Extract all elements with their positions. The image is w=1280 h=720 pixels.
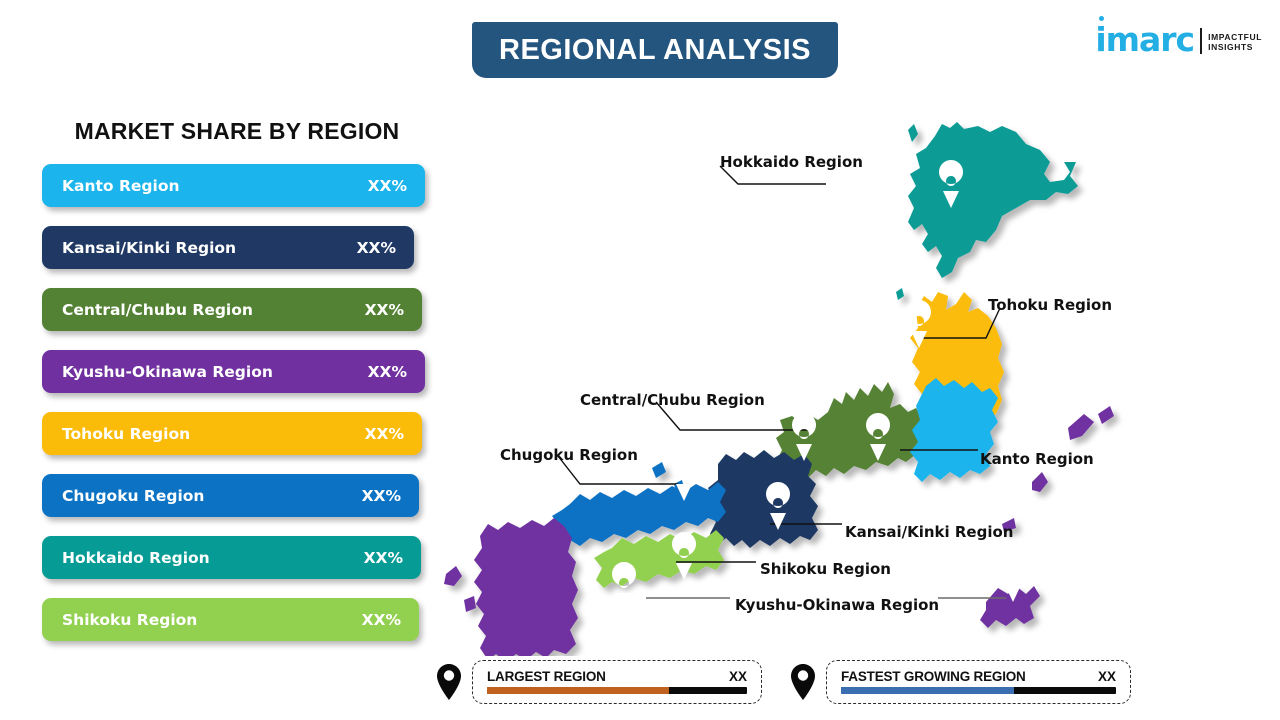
slide-root: REGIONAL ANALYSIS imarc IMPACTFUL INSIGH… bbox=[0, 0, 1280, 720]
imarc-logo: imarc IMPACTFUL INSIGHTS bbox=[1095, 16, 1262, 56]
logo-divider bbox=[1200, 28, 1202, 54]
kpi-title: LARGEST REGION bbox=[487, 669, 606, 684]
map-label: Kanto Region bbox=[980, 450, 1094, 468]
map-region-kansai[interactable] bbox=[708, 450, 818, 548]
legend-row[interactable]: Chugoku RegionXX% bbox=[42, 474, 419, 517]
legend-row-label: Chugoku Region bbox=[62, 487, 204, 505]
map-label: Chugoku Region bbox=[500, 446, 638, 464]
legend-row[interactable]: Kanto RegionXX% bbox=[42, 164, 425, 207]
japan-map: Hokkaido RegionTohoku RegionCentral/Chub… bbox=[430, 96, 1280, 656]
kpi-value: XX bbox=[729, 669, 747, 684]
map-region-hokkaido-islet2 bbox=[896, 288, 904, 300]
kpi-progress-track bbox=[487, 687, 747, 694]
legend-row-label: Central/Chubu Region bbox=[62, 301, 253, 319]
kpi-bar: LARGEST REGIONXXFASTEST GROWING REGIONXX bbox=[0, 656, 1280, 714]
kpi-toprow: LARGEST REGIONXX bbox=[487, 669, 747, 684]
map-label: Central/Chubu Region bbox=[580, 391, 765, 409]
map-pin-kyushu-icon[interactable] bbox=[612, 562, 636, 610]
legend-row[interactable]: Hokkaido RegionXX% bbox=[42, 536, 421, 579]
map-region-okinawa-islet3 bbox=[1032, 472, 1048, 492]
legend-list: Kanto RegionXX%Kansai/Kinki RegionXX%Cen… bbox=[42, 164, 432, 641]
legend-row-value: XX% bbox=[357, 239, 396, 257]
kpi-progress-fill bbox=[841, 687, 1014, 694]
market-share-panel: MARKET SHARE BY REGION Kanto RegionXX%Ka… bbox=[42, 118, 432, 660]
kpi-pin-icon bbox=[790, 663, 816, 701]
page-title-banner: REGIONAL ANALYSIS bbox=[472, 22, 838, 78]
legend-row-value: XX% bbox=[368, 177, 407, 195]
legend-row-value: XX% bbox=[362, 611, 401, 629]
legend-row[interactable]: Kyushu-Okinawa RegionXX% bbox=[42, 350, 425, 393]
legend-row-label: Kansai/Kinki Region bbox=[62, 239, 236, 257]
kpi-value: XX bbox=[1098, 669, 1116, 684]
legend-row-value: XX% bbox=[362, 487, 401, 505]
legend-row-value: XX% bbox=[365, 301, 404, 319]
legend-row-value: XX% bbox=[364, 549, 403, 567]
legend-row[interactable]: Central/Chubu RegionXX% bbox=[42, 288, 422, 331]
kpi-card[interactable]: LARGEST REGIONXX bbox=[436, 660, 762, 704]
map-label: Tohoku Region bbox=[988, 296, 1112, 314]
kpi-box: FASTEST GROWING REGIONXX bbox=[826, 660, 1131, 704]
legend-row-label: Tohoku Region bbox=[62, 425, 190, 443]
map-islet-seto1 bbox=[652, 462, 666, 478]
legend-row-label: Hokkaido Region bbox=[62, 549, 210, 567]
legend-row[interactable]: Tohoku RegionXX% bbox=[42, 412, 422, 455]
legend-row-value: XX% bbox=[368, 363, 407, 381]
map-label: Hokkaido Region bbox=[720, 153, 863, 171]
kpi-box: LARGEST REGIONXX bbox=[472, 660, 762, 704]
logo-wordmark: imarc bbox=[1095, 23, 1194, 56]
legend-row-label: Shikoku Region bbox=[62, 611, 197, 629]
map-region-okinawa-islet1 bbox=[1068, 414, 1094, 440]
map-region-hokkaido-islet1 bbox=[908, 124, 918, 142]
map-region-kyushu[interactable] bbox=[474, 518, 578, 656]
page-title: REGIONAL ANALYSIS bbox=[499, 34, 811, 67]
map-label: Kansai/Kinki Region bbox=[845, 523, 1013, 541]
legend-row-label: Kanto Region bbox=[62, 177, 180, 195]
legend-row-label: Kyushu-Okinawa Region bbox=[62, 363, 273, 381]
legend-row[interactable]: Shikoku RegionXX% bbox=[42, 598, 419, 641]
map-region-hokkaido[interactable] bbox=[908, 122, 1078, 278]
logo-wordmark-text: imarc bbox=[1095, 20, 1194, 59]
kpi-card[interactable]: FASTEST GROWING REGIONXX bbox=[790, 660, 1131, 704]
kpi-progress-fill bbox=[487, 687, 669, 694]
map-region-kyushu-islet2 bbox=[464, 596, 476, 612]
map-label: Shikoku Region bbox=[760, 560, 891, 578]
kpi-toprow: FASTEST GROWING REGIONXX bbox=[841, 669, 1116, 684]
map-label: Kyushu-Okinawa Region bbox=[735, 596, 939, 614]
kpi-title: FASTEST GROWING REGION bbox=[841, 669, 1026, 684]
map-region-okinawa-islet2 bbox=[1098, 406, 1114, 424]
panel-heading: MARKET SHARE BY REGION bbox=[42, 118, 432, 145]
kpi-progress-track bbox=[841, 687, 1116, 694]
map-region-kyushu-islet1 bbox=[444, 566, 462, 586]
logo-tagline: IMPACTFUL INSIGHTS bbox=[1208, 33, 1262, 56]
legend-row[interactable]: Kansai/Kinki RegionXX% bbox=[42, 226, 414, 269]
kpi-pin-icon bbox=[436, 663, 462, 701]
legend-row-value: XX% bbox=[365, 425, 404, 443]
logo-tagline-line2: INSIGHTS bbox=[1208, 43, 1262, 53]
